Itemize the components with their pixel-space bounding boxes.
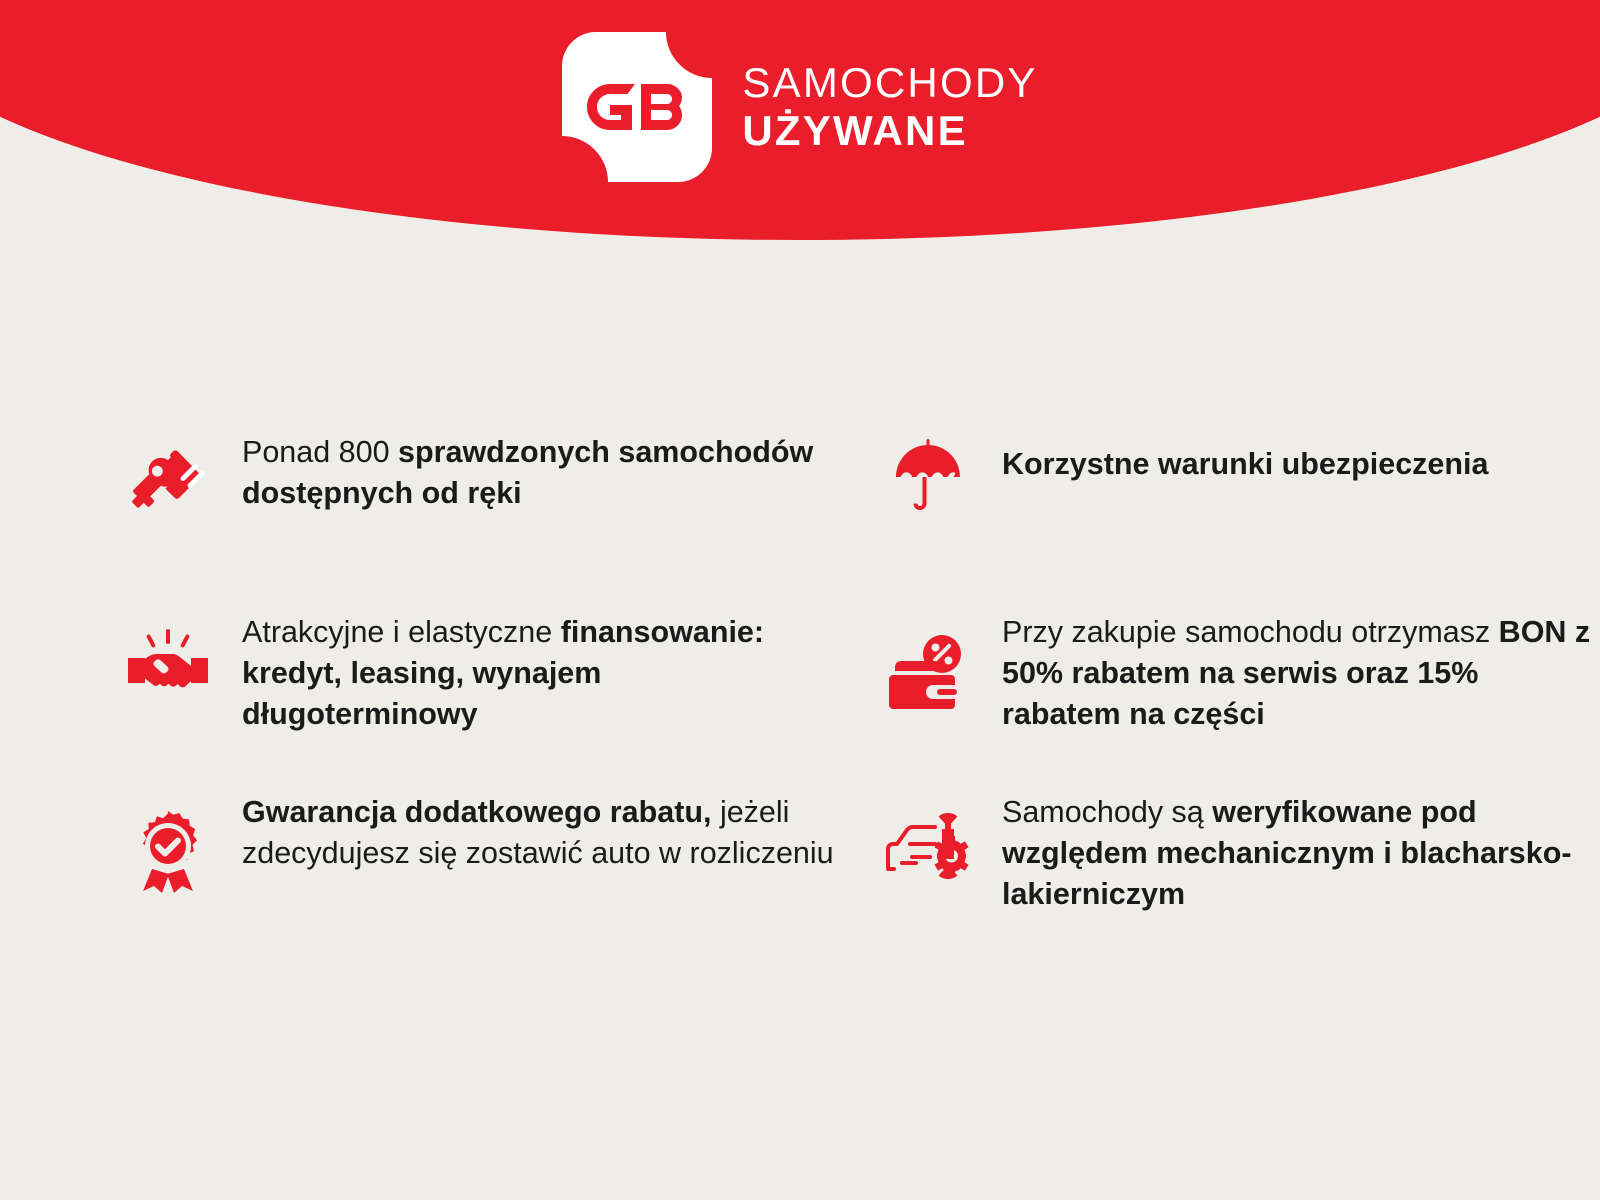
feature-lead-voucher: Przy zakupie samochodu otrzymasz (1002, 615, 1499, 649)
poster-root: SAMOCHODY UŻYWANE Ponad 800 sprawdzonych… (0, 0, 1600, 1200)
car-wrench-gear-icon (880, 796, 976, 892)
gb-logo-mark (562, 32, 712, 182)
feature-text-voucher: Przy zakupie samochodu otrzymasz BON z 5… (1002, 610, 1600, 736)
rosette-check-icon (120, 802, 216, 898)
feature-strong-insurance: Korzystne warunki ubezpieczenia (1002, 447, 1488, 481)
feature-lead-financing: Atrakcyjne i elastyczne (242, 615, 561, 649)
gb-monogram-icon (587, 84, 687, 130)
feature-item-financing: Atrakcyjne i elastyczne finansowanie: kr… (120, 610, 840, 790)
brand-wordmark-line1: SAMOCHODY (742, 62, 1037, 104)
key-tag-icon (120, 438, 216, 534)
feature-lead-keys: Ponad 800 (242, 435, 398, 469)
feature-lead-inspection: Samochody są (1002, 795, 1212, 829)
feature-text-keys: Ponad 800 sprawdzonych samochodów dostęp… (242, 430, 840, 514)
feature-item-inspection: Samochody są weryfikowane pod względem m… (880, 790, 1600, 970)
brand-logo-lockup: SAMOCHODY UŻYWANE (0, 32, 1600, 182)
feature-grid: Ponad 800 sprawdzonych samochodów dostęp… (0, 430, 1600, 970)
brand-wordmark-line2: UŻYWANE (742, 110, 1037, 152)
brand-wordmark: SAMOCHODY UŻYWANE (742, 62, 1037, 152)
feature-text-guarantee: Gwarancja dodatkowego rabatu, jeżeli zde… (242, 790, 840, 874)
feature-item-keys: Ponad 800 sprawdzonych samochodów dostęp… (120, 430, 840, 610)
umbrella-icon (880, 428, 976, 524)
feature-item-insurance: Korzystne warunki ubezpieczenia (880, 430, 1600, 610)
feature-text-insurance: Korzystne warunki ubezpieczenia (1002, 430, 1488, 485)
feature-strong-guarantee: Gwarancja dodatkowego rabatu, (242, 795, 711, 829)
feature-item-voucher: Przy zakupie samochodu otrzymasz BON z 5… (880, 610, 1600, 790)
feature-text-inspection: Samochody są weryfikowane pod względem m… (1002, 790, 1600, 916)
feature-item-guarantee: Gwarancja dodatkowego rabatu, jeżeli zde… (120, 790, 840, 970)
feature-text-financing: Atrakcyjne i elastyczne finansowanie: kr… (242, 610, 840, 736)
wallet-percent-icon (880, 624, 976, 720)
handshake-icon (120, 620, 216, 716)
